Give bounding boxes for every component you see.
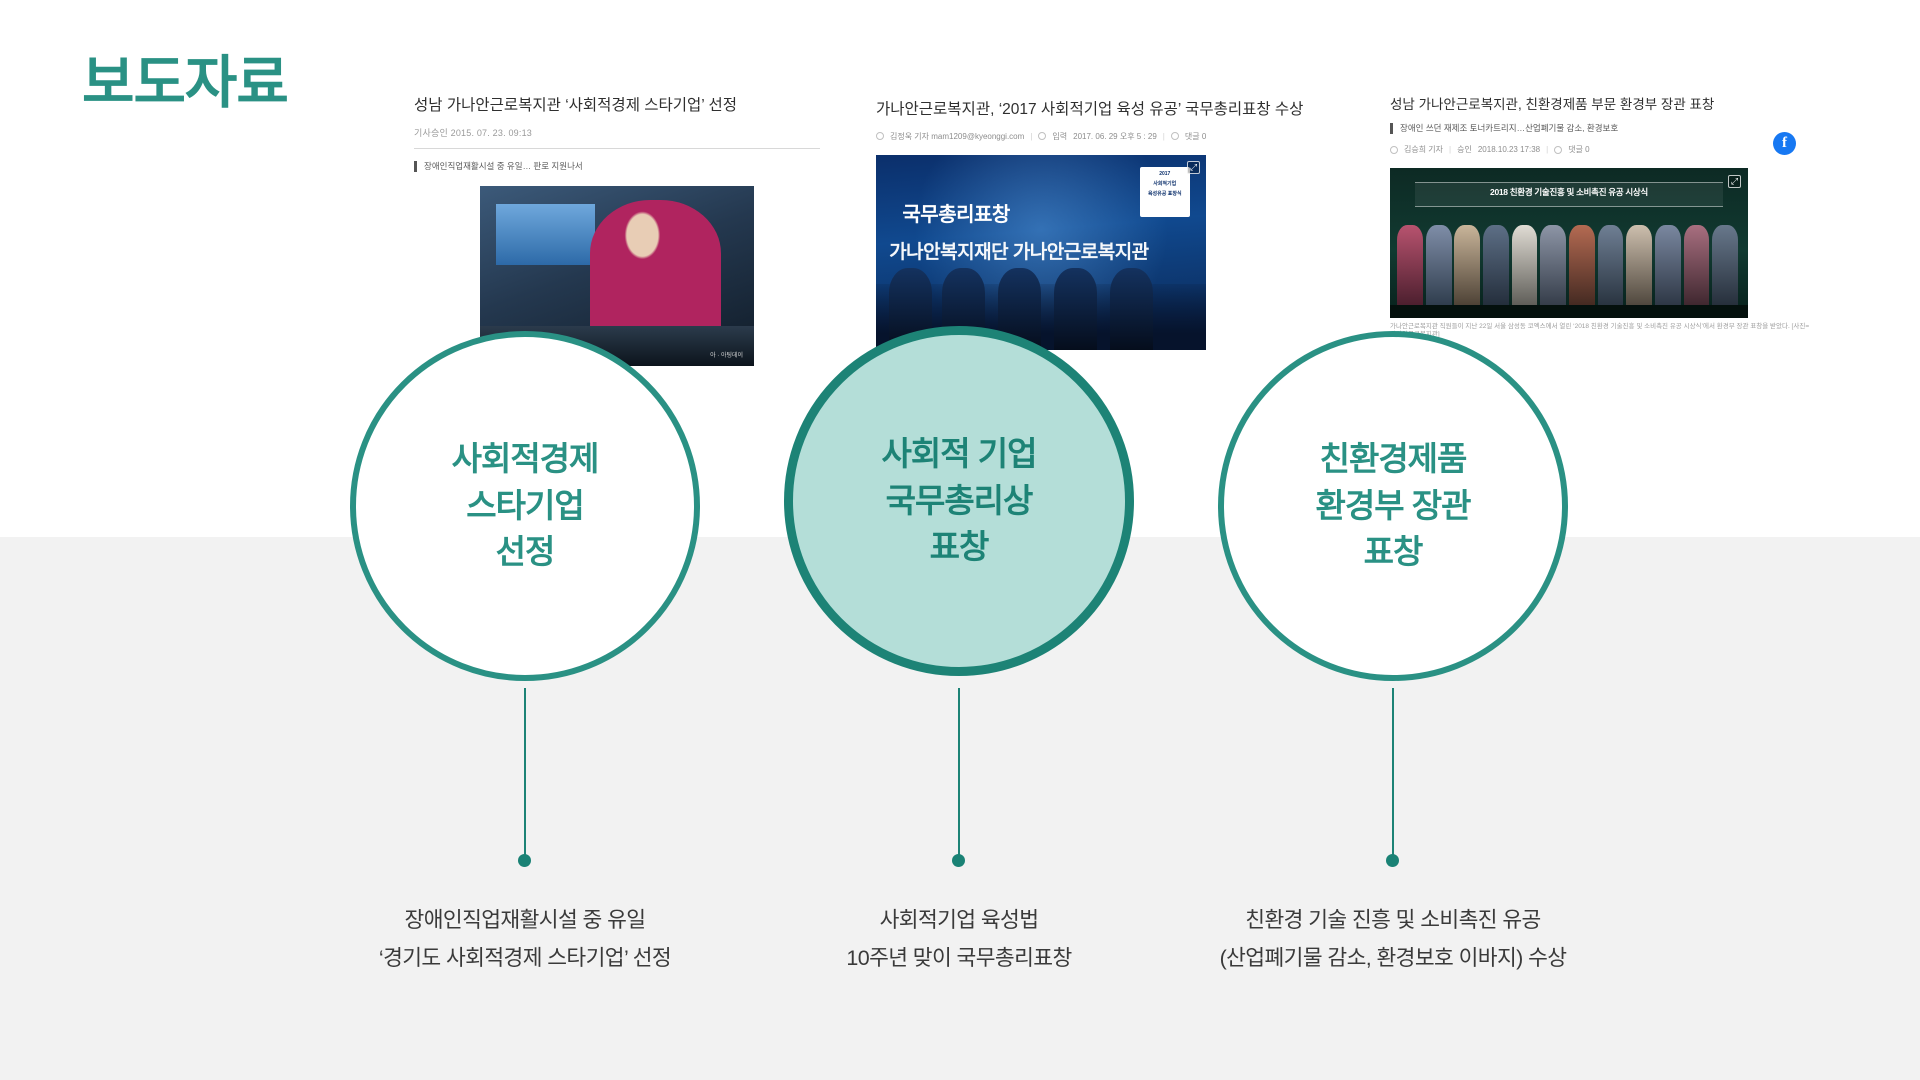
- stage-floor: [1390, 305, 1748, 319]
- clipping-3-photo-caption: 가나안근로복지관 직원들이 지난 22일 서울 삼성동 코엑스에서 열린 ‘20…: [1390, 323, 1810, 339]
- clipping-3-posted-label: 승인: [1457, 144, 1472, 155]
- node-2-stem-dot: [952, 854, 965, 867]
- node-2-circle[interactable]: 사회적 기업국무총리상표창: [784, 326, 1134, 676]
- meta-separator-2: |: [1546, 145, 1548, 154]
- node-3-stem: [1392, 688, 1394, 858]
- clock-icon: [1038, 132, 1046, 140]
- meta-separator: |: [1030, 132, 1032, 141]
- clipping-3-posted: 2018.10.23 17:38: [1478, 145, 1540, 154]
- slide-root: 보도자료 성남 가나안근로복지관 ‘사회적경제 스타기업’ 선정 기사승인 20…: [0, 0, 1920, 1080]
- node-3-caption: 친환경 기술 진흥 및 소비촉진 유공 (산업폐기물 감소, 환경보호 이바지)…: [1133, 902, 1653, 977]
- clipping-2-meta: 김정욱 기자 mam1209@kyeonggi.com | 입력 2017. 0…: [876, 131, 1340, 142]
- person-shape: [590, 200, 722, 340]
- expand-icon[interactable]: ⤢: [1187, 161, 1200, 174]
- news-clipping-1: 성남 가나안근로복지관 ‘사회적경제 스타기업’ 선정 기사승인 2015. 0…: [414, 96, 820, 366]
- photo-caption-line-2: 가나안복지재단 가나안근로복지관: [889, 237, 1148, 264]
- node-3-circle[interactable]: 친환경제품환경부 장관표창: [1218, 331, 1568, 681]
- facebook-share-icon[interactable]: f: [1773, 132, 1796, 155]
- meta-separator: |: [1449, 145, 1451, 154]
- clipping-2-posted-label: 입력: [1052, 131, 1067, 142]
- node-3-caption-line-1: 친환경 기술 진흥 및 소비촉진 유공: [1133, 902, 1653, 940]
- clipping-3-reporter: 김승희 기자: [1404, 144, 1443, 155]
- node-1-label: 사회적경제스타기업선정: [452, 436, 599, 577]
- comment-icon: [1171, 132, 1179, 140]
- clipping-3-photo: 2018 친환경 기술진흥 및 소비촉진 유공 시상식 ⤢: [1390, 168, 1748, 318]
- reporter-avatar-icon: [1390, 146, 1398, 154]
- expand-icon[interactable]: ⤢: [1728, 175, 1741, 188]
- news-clipping-3: 성남 가나안근로복지관, 친환경제품 부문 환경부 장관 표창 장애인 쓰던 재…: [1390, 96, 1810, 340]
- node-3-label: 친환경제품환경부 장관표창: [1316, 436, 1471, 577]
- node-1-stem-dot: [518, 854, 531, 867]
- news-clipping-2: 가나안근로복지관, ‘2017 사회적기업 육성 유공’ 국무총리표창 수상 김…: [876, 100, 1340, 350]
- clipping-2-reporter: 김정욱 기자 mam1209@kyeonggi.com: [890, 131, 1024, 142]
- photo-caption-line-1: 국무총리표창: [902, 198, 1009, 227]
- clipping-1-subhead: 장애인직업재활시설 중 유일… 판로 지원나서: [414, 161, 820, 172]
- event-banner-text: 2018 친환경 기술진흥 및 소비촉진 유공 시상식: [1415, 186, 1723, 198]
- node-3-stem-dot: [1386, 854, 1399, 867]
- clipping-1-date: 기사승인 2015. 07. 23. 09:13: [414, 126, 820, 139]
- person-shape-5: [1110, 268, 1153, 350]
- clipping-2-comments: 댓글 0: [1185, 131, 1206, 142]
- clipping-3-subhead: 장애인 쓰던 재제조 토너카트리지…산업폐기물 감소, 환경보호: [1390, 123, 1810, 134]
- node-2-stem: [958, 688, 960, 858]
- clipping-2-posted: 2017. 06. 29 오후 5 : 29: [1073, 131, 1157, 142]
- node-3-caption-line-2: (산업폐기물 감소, 환경보호 이바지) 수상: [1133, 940, 1653, 978]
- node-1-circle[interactable]: 사회적경제스타기업선정: [350, 331, 700, 681]
- photo-watermark: 아 · 아팅데이: [710, 350, 743, 359]
- badge-year: 2017: [1140, 171, 1190, 177]
- reporter-avatar-icon: [876, 132, 884, 140]
- clipping-3-meta: 김승희 기자 | 승인 2018.10.23 17:38 | 댓글 0: [1390, 144, 1810, 155]
- clipping-1-headline: 성남 가나안근로복지관 ‘사회적경제 스타기업’ 선정: [414, 96, 820, 117]
- event-banner: 2018 친환경 기술진흥 및 소비촉진 유공 시상식: [1415, 182, 1723, 208]
- meta-separator-2: |: [1163, 132, 1165, 141]
- event-badge: 2017 사회적기업 육성유공 표창식: [1140, 167, 1190, 218]
- node-1-stem: [524, 688, 526, 858]
- comment-icon: [1554, 146, 1562, 154]
- node-2-label: 사회적 기업국무총리상표창: [882, 431, 1037, 572]
- badge-line-3: 육성유공 표창식: [1140, 191, 1190, 197]
- badge-line-2: 사회적기업: [1140, 181, 1190, 187]
- monitor-shape: [496, 204, 595, 265]
- clipping-2-photo: 국무총리표창 가나안복지재단 가나안근로복지관 2017 사회적기업 육성유공 …: [876, 155, 1206, 350]
- clipping-3-comments: 댓글 0: [1568, 144, 1589, 155]
- clipping-1-divider: [414, 148, 820, 149]
- person-shape-4: [1054, 268, 1097, 350]
- clipping-3-headline: 성남 가나안근로복지관, 친환경제품 부문 환경부 장관 표창: [1390, 96, 1810, 114]
- clipping-2-headline: 가나안근로복지관, ‘2017 사회적기업 육성 유공’ 국무총리표창 수상: [876, 100, 1340, 121]
- page-title: 보도자료: [82, 52, 288, 115]
